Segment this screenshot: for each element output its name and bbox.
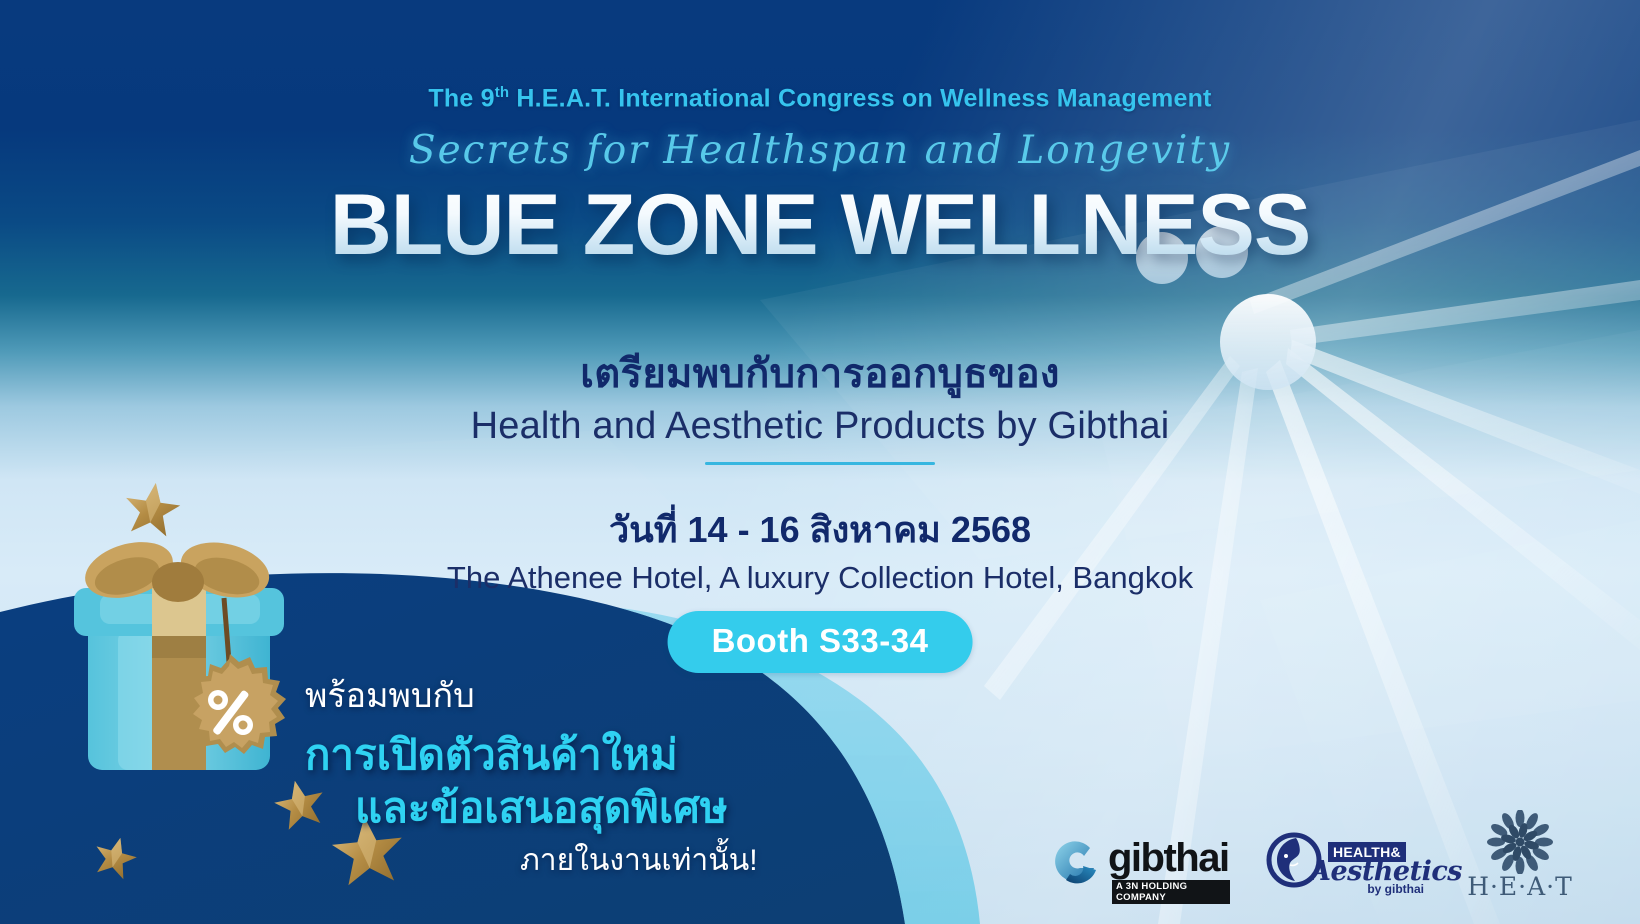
- heat-mandala-icon: [1450, 810, 1590, 874]
- gibthai-tagline: A 3N HOLDING COMPANY: [1112, 880, 1230, 904]
- congress-rest: H.E.A.T. International Congress on Welln…: [509, 84, 1211, 112]
- congress-ordinal: th: [495, 84, 510, 101]
- heat-logo: H·E·A·T: [1450, 810, 1590, 900]
- event-venue: The Athenee Hotel, A luxury Collection H…: [0, 560, 1640, 596]
- thai-subtitle: เตรียมพบกับการออกบูธของ: [0, 341, 1640, 405]
- promotional-banner: The 9th H.E.A.T. International Congress …: [0, 0, 1640, 924]
- event-date: วันที่ 14 - 16 สิงหาคม 2568: [0, 501, 1640, 558]
- promo-line-4: ภายในงานเท่านั้น!: [520, 837, 758, 884]
- health-aesthetics-logo: HEALTH& Aesthetics by gibthai: [1266, 832, 1426, 896]
- gibthai-logo: gibthai A 3N HOLDING COMPANY: [1050, 836, 1230, 898]
- page-title: BLUE ZONE WELLNESS: [0, 176, 1640, 275]
- gibthai-wordmark: gibthai: [1108, 838, 1229, 878]
- by-gibthai-label: by gibthai: [1367, 882, 1424, 896]
- booth-badge: Booth S33-34: [668, 611, 973, 673]
- english-subtitle: Health and Aesthetic Products by Gibthai: [0, 405, 1640, 448]
- congress-title: The 9th H.E.A.T. International Congress …: [0, 84, 1640, 113]
- promo-line-1: พร้อมพบกับ: [305, 668, 475, 722]
- event-tagline: Secrets for Healthspan and Longevity: [0, 128, 1640, 173]
- congress-prefix: The 9: [428, 84, 494, 112]
- heat-wordmark: H·E·A·T: [1450, 872, 1590, 901]
- section-divider: [705, 462, 935, 465]
- gibthai-swirl-icon: [1050, 836, 1106, 892]
- promo-line-3: และข้อเสนอสุดพิเศษ: [355, 775, 728, 841]
